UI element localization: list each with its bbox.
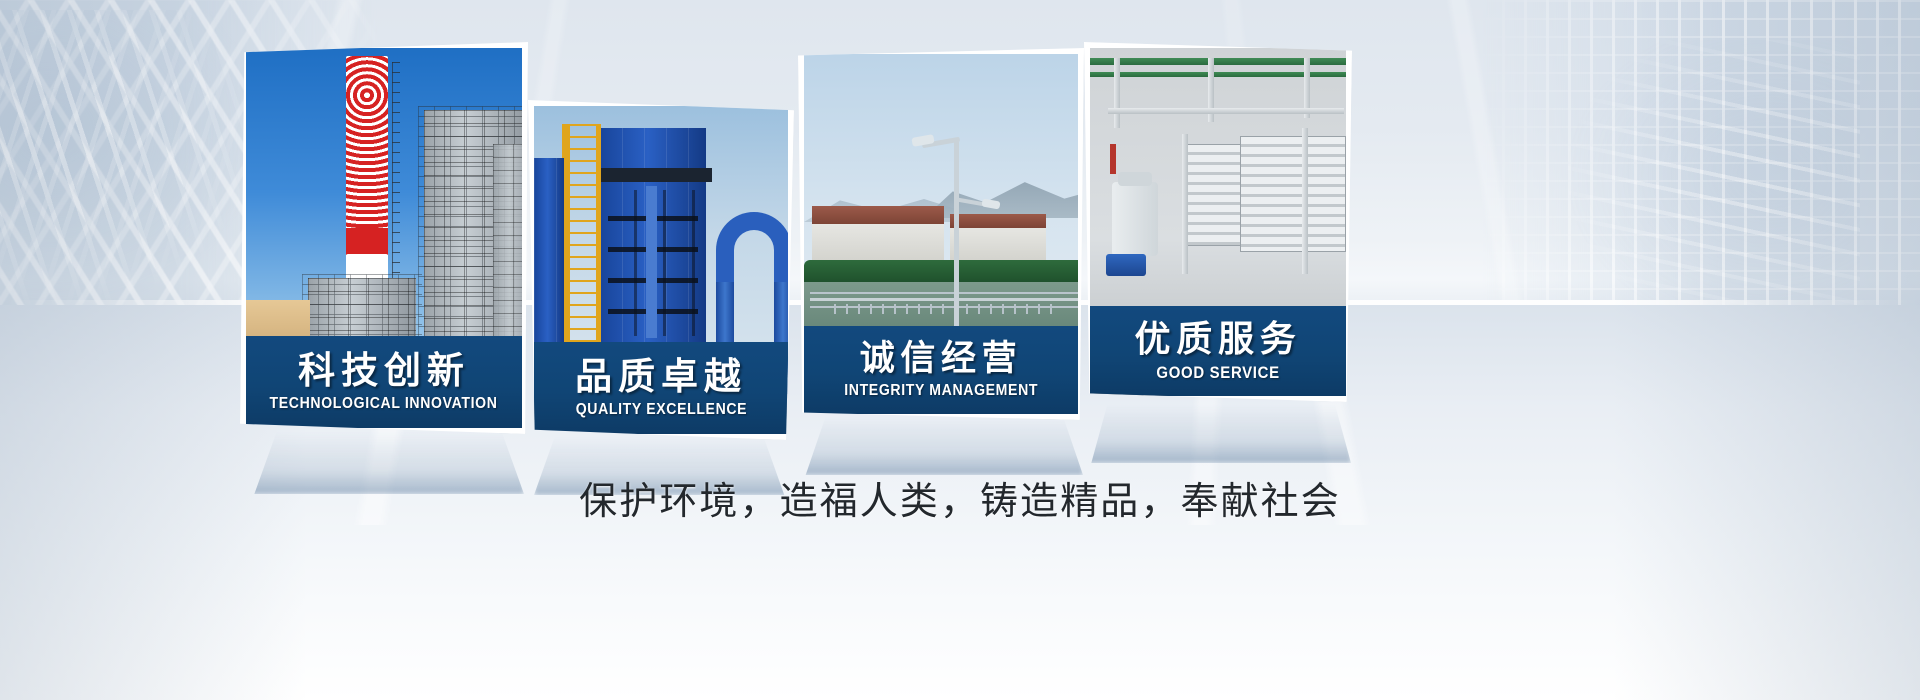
feature-panel-quality-excellence[interactable]: 品质卓越 QUALITY EXCELLENCE [528,100,794,440]
panel-title-cn-2: 品质卓越 [575,358,747,395]
panel-title-cn-4: 优质服务 [1134,321,1301,357]
panel-title-en-1: TECHNOLOGICAL INNOVATION [270,396,498,412]
panel-caption-technological-innovation: 科技创新 TECHNOLOGICAL INNOVATION [246,336,522,428]
banner-tagline: 保护环境，造福人类，铸造精品，奉献社会 [0,470,1920,525]
feature-panel-technological-innovation[interactable]: 科技创新 TECHNOLOGICAL INNOVATION [240,42,528,434]
panel-reflection-3 [800,417,1083,475]
hero-banner: 科技创新 TECHNOLOGICAL INNOVATION [0,0,1920,700]
panel-title-en-3: INTEGRITY MANAGEMENT [844,383,1038,399]
panel-title-en-2: QUALITY EXCELLENCE [575,402,747,418]
panel-caption-integrity-management: 诚信经营 INTEGRITY MANAGEMENT [804,326,1078,414]
panel-title-en-4: GOOD SERVICE [1156,364,1279,381]
panel-caption-quality-excellence: 品质卓越 QUALITY EXCELLENCE [534,342,788,434]
panel-title-cn-3: 诚信经营 [860,341,1022,376]
panel-caption-good-service: 优质服务 GOOD SERVICE [1090,306,1346,396]
panel-title-cn-1: 科技创新 [298,352,470,389]
panel-group: 科技创新 TECHNOLOGICAL INNOVATION [0,0,1920,700]
panel-reflection-4 [1086,405,1351,463]
feature-panel-integrity-management[interactable]: 诚信经营 INTEGRITY MANAGEMENT [798,48,1084,420]
feature-panel-good-service[interactable]: 优质服务 GOOD SERVICE [1084,42,1352,402]
